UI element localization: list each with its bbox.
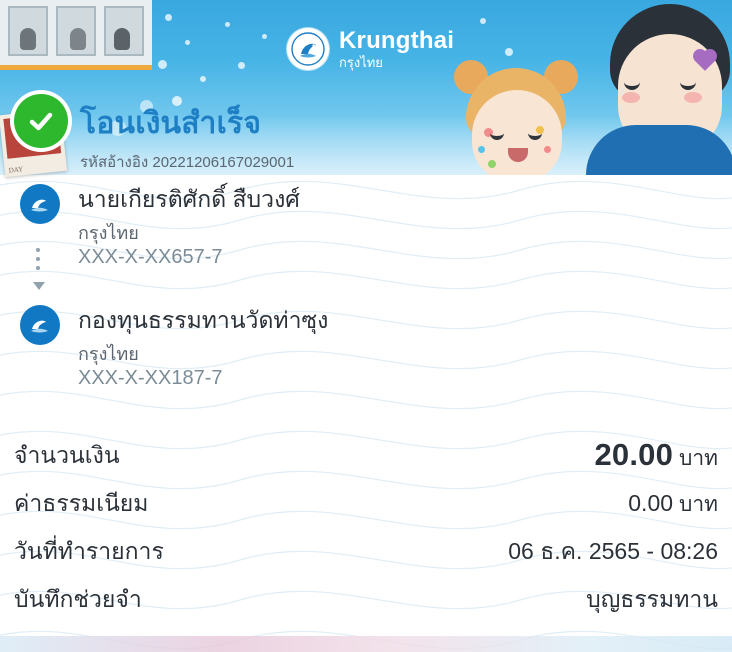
snow-dot bbox=[505, 48, 513, 56]
summary-row-fee: ค่าธรรมเนียม 0.00บาท bbox=[14, 480, 718, 528]
summary-label: จำนวนเงิน bbox=[14, 438, 120, 474]
boy-blush bbox=[684, 92, 702, 103]
polaroid-caption: DAY bbox=[8, 165, 23, 174]
girl-illustration bbox=[452, 64, 582, 175]
memo-value: บุญธรรมทาน bbox=[586, 582, 718, 618]
snow-dot bbox=[480, 18, 486, 24]
page-title: โอนเงินสำเร็จ bbox=[80, 100, 261, 147]
brand-text: Krungthai กรุงไทย bbox=[339, 29, 454, 69]
arrow-down-dotted-icon bbox=[36, 248, 44, 286]
dot bbox=[36, 266, 40, 270]
reference-code: รหัสอ้างอิง 20221206167029001 bbox=[80, 150, 294, 174]
krungthai-logo-icon bbox=[287, 28, 329, 70]
brand-name-th: กรุงไทย bbox=[339, 56, 454, 69]
brand-name-en: Krungthai bbox=[339, 29, 454, 53]
bank-avatar-icon bbox=[20, 305, 60, 345]
snow-dot bbox=[238, 62, 245, 69]
boy-eye bbox=[624, 74, 640, 90]
krungthai-brand: Krungthai กรุงไทย bbox=[287, 28, 454, 70]
dot bbox=[36, 248, 40, 252]
from-account-number: XXX-X-XX657-7 bbox=[78, 246, 223, 269]
fee-unit: บาท bbox=[679, 493, 718, 516]
summary-row-memo: บันทึกช่วยจำ บุญธรรมทาน bbox=[14, 576, 718, 624]
amount-unit: บาท bbox=[679, 447, 718, 470]
arrow-head bbox=[33, 282, 45, 290]
boy-illustration bbox=[576, 0, 732, 175]
snow-dot bbox=[158, 60, 167, 69]
window-pane bbox=[8, 6, 48, 56]
girl-eye bbox=[490, 126, 504, 140]
transfer-success-screen: Krungthai กรุงไทย DAY โอนเงินสำเร็จ รหัส… bbox=[0, 0, 732, 652]
bottom-decoration-strip bbox=[0, 636, 732, 652]
from-account-name: นายเกียรติศักดิ์ สืบวงศ์ bbox=[78, 182, 300, 218]
header-illustration-banner: Krungthai กรุงไทย bbox=[0, 0, 732, 175]
window-photo-decoration bbox=[0, 0, 152, 70]
snow-dot bbox=[165, 14, 172, 21]
datetime-value: 06 ธ.ค. 2565 - 08:26 bbox=[508, 534, 718, 570]
to-account-name: กองทุนธรรมทานวัดท่าซุง bbox=[78, 303, 328, 339]
summary-value: 0.00บาท bbox=[628, 488, 718, 521]
face-paint-dot bbox=[544, 146, 551, 153]
window-kid bbox=[20, 28, 36, 50]
snow-dot bbox=[225, 22, 230, 27]
window-pane bbox=[56, 6, 96, 56]
to-account-bank: กรุงไทย bbox=[78, 339, 139, 368]
amount-value: 20.00 bbox=[594, 437, 673, 472]
summary-row-amount: จำนวนเงิน 20.00บาท bbox=[14, 432, 718, 480]
girl-face bbox=[472, 90, 562, 175]
boy-body bbox=[586, 125, 732, 175]
to-account-number: XXX-X-XX187-7 bbox=[78, 367, 223, 390]
from-account-bank: กรุงไทย bbox=[78, 218, 139, 247]
boy-blush bbox=[622, 92, 640, 103]
face-paint-dot bbox=[488, 160, 496, 168]
girl-eye bbox=[528, 126, 542, 140]
summary-value: 20.00บาท bbox=[594, 437, 718, 475]
face-paint-dot bbox=[478, 146, 485, 153]
window-pane bbox=[104, 6, 144, 56]
fee-value: 0.00 bbox=[628, 490, 673, 516]
dot bbox=[36, 257, 40, 261]
bank-avatar-icon bbox=[20, 184, 60, 224]
summary-label: วันที่ทำรายการ bbox=[14, 534, 164, 570]
window-kid bbox=[114, 28, 130, 50]
snow-dot bbox=[200, 76, 206, 82]
success-check-icon bbox=[14, 94, 68, 148]
snow-dot bbox=[262, 34, 267, 39]
window-kid bbox=[70, 28, 86, 50]
snow-dot bbox=[185, 40, 190, 45]
boy-eye bbox=[680, 74, 696, 90]
summary-label: บันทึกช่วยจำ bbox=[14, 582, 142, 618]
transaction-summary: จำนวนเงิน 20.00บาท ค่าธรรมเนียม 0.00บาท … bbox=[14, 432, 718, 624]
summary-row-datetime: วันที่ทำรายการ 06 ธ.ค. 2565 - 08:26 bbox=[14, 528, 718, 576]
summary-label: ค่าธรรมเนียม bbox=[14, 486, 148, 522]
